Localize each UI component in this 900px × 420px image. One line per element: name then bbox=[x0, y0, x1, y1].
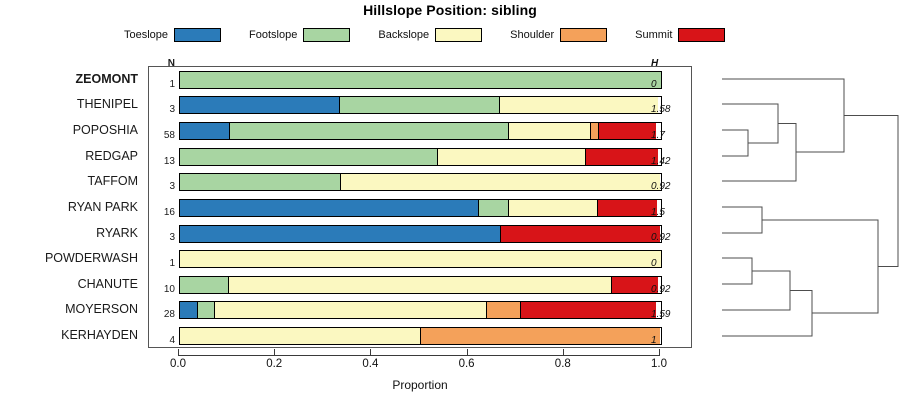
legend: ToeslopeFootslopeBackslopeShoulderSummit bbox=[0, 26, 900, 44]
n-value: 28 bbox=[164, 310, 175, 323]
y-axis-label-text: RYARK bbox=[96, 226, 138, 240]
stacked-bar[interactable] bbox=[179, 301, 662, 319]
chart-root: Hillslope Position: sibling ToeslopeFoot… bbox=[0, 0, 900, 420]
h-value-cell: 1.5 bbox=[645, 195, 691, 221]
bar-segment-backslope bbox=[499, 97, 659, 113]
y-axis-label-poposhia[interactable]: POPOSHIA bbox=[73, 117, 138, 143]
bar-segment-footslope bbox=[339, 97, 498, 113]
x-axis-line bbox=[178, 355, 659, 356]
bar-segment-footslope bbox=[229, 123, 508, 139]
chart-row: 281.59 bbox=[149, 298, 691, 324]
bar-segment-footslope bbox=[180, 174, 340, 190]
x-axis-tick bbox=[370, 349, 371, 356]
h-value: 0.92 bbox=[651, 285, 670, 298]
n-value: 13 bbox=[164, 157, 175, 170]
n-value: 3 bbox=[169, 182, 175, 195]
h-value-cell: 1.58 bbox=[645, 93, 691, 119]
h-value-cell: 0 bbox=[645, 67, 691, 93]
y-axis-label-zeomont[interactable]: ZEOMONT bbox=[76, 66, 139, 92]
n-value-cell: 10 bbox=[149, 272, 179, 298]
bar-segment-backslope bbox=[340, 174, 660, 190]
bar-segment-summit bbox=[520, 302, 656, 318]
legend-item-toeslope[interactable]: Toeslope bbox=[124, 28, 221, 42]
n-value-cell: 28 bbox=[149, 298, 179, 324]
h-value-cell: 0.92 bbox=[645, 221, 691, 247]
y-axis-label-moyerson[interactable]: MOYERSON bbox=[65, 297, 138, 323]
n-value: 58 bbox=[164, 131, 175, 144]
n-value-cell: 4 bbox=[149, 323, 179, 349]
y-axis-label-text: MOYERSON bbox=[65, 302, 138, 316]
h-value: 1.42 bbox=[651, 157, 670, 170]
stacked-bar[interactable] bbox=[179, 199, 662, 217]
stacked-bar[interactable] bbox=[179, 327, 662, 345]
y-axis-label-powderwash[interactable]: POWDERWASH bbox=[45, 245, 138, 271]
x-axis-tick-label: 0.2 bbox=[266, 358, 282, 370]
h-value-cell: 0.92 bbox=[645, 170, 691, 196]
h-value: 1.5 bbox=[651, 208, 665, 221]
legend-item-summit[interactable]: Summit bbox=[635, 28, 725, 42]
legend-label: Backslope bbox=[378, 29, 429, 41]
y-axis-label-text: POPOSHIA bbox=[73, 123, 138, 137]
y-axis-label-text: POWDERWASH bbox=[45, 251, 138, 265]
x-axis-title: Proportion bbox=[148, 378, 692, 392]
legend-swatch-summit bbox=[678, 28, 725, 42]
x-axis: 0.00.20.40.60.81.0 bbox=[148, 349, 692, 350]
y-axis-labels: ZEOMONTTHENIPELPOPOSHIAREDGAPTAFFOMRYAN … bbox=[0, 66, 144, 348]
n-value-cell: 3 bbox=[149, 221, 179, 247]
y-axis-label-redgap[interactable]: REDGAP bbox=[85, 143, 138, 169]
n-header-text: N bbox=[168, 58, 175, 69]
chart-row: 30.92 bbox=[149, 221, 691, 247]
dendrogram bbox=[692, 66, 900, 348]
n-value: 1 bbox=[169, 259, 175, 272]
bar-segment-footslope bbox=[180, 277, 228, 293]
stacked-bar[interactable] bbox=[179, 122, 662, 140]
h-value-cell: 0.92 bbox=[645, 272, 691, 298]
y-axis-label-chanute[interactable]: CHANUTE bbox=[78, 271, 138, 297]
stacked-bar[interactable] bbox=[179, 148, 662, 166]
chart-row: 41 bbox=[149, 323, 691, 349]
h-value-cell: 1 bbox=[645, 323, 691, 349]
bar-segment-shoulder bbox=[486, 302, 520, 318]
y-axis-label-ryan-park[interactable]: RYAN PARK bbox=[68, 194, 138, 220]
bar-segment-footslope bbox=[478, 200, 508, 216]
h-value-cell: 1.7 bbox=[645, 118, 691, 144]
h-value: 1.58 bbox=[651, 105, 670, 118]
chart-row: 131.42 bbox=[149, 144, 691, 170]
y-axis-label-taffom[interactable]: TAFFOM bbox=[88, 169, 138, 195]
legend-swatch-backslope bbox=[435, 28, 482, 42]
bar-segment-backslope bbox=[508, 123, 590, 139]
h-value: 1.59 bbox=[651, 310, 670, 323]
chart-row: 31.58 bbox=[149, 93, 691, 119]
bar-segment-backslope bbox=[180, 251, 661, 267]
legend-item-backslope[interactable]: Backslope bbox=[378, 28, 482, 42]
bar-segment-toeslope bbox=[180, 200, 478, 216]
n-column-header: N bbox=[149, 58, 179, 84]
chart-row: 161.5 bbox=[149, 195, 691, 221]
stacked-bar[interactable] bbox=[179, 173, 662, 191]
x-axis-tick bbox=[178, 349, 179, 356]
x-axis-tick-label: 0.6 bbox=[459, 358, 475, 370]
y-axis-label-ryark[interactable]: RYARK bbox=[96, 220, 138, 246]
dendrogram-svg bbox=[692, 66, 900, 348]
h-value-cell: 1.59 bbox=[645, 298, 691, 324]
stacked-bar[interactable] bbox=[179, 250, 662, 268]
stacked-bar[interactable] bbox=[179, 276, 662, 294]
y-axis-label-text: TAFFOM bbox=[88, 174, 138, 188]
n-value-cell: 1 bbox=[149, 246, 179, 272]
h-value: 0 bbox=[651, 80, 657, 93]
x-axis-tick-label: 0.4 bbox=[362, 358, 378, 370]
plot-panel: 1NH031.58581.7131.4230.92161.530.9210100… bbox=[148, 66, 692, 348]
y-axis-label-thenipel[interactable]: THENIPEL bbox=[77, 92, 138, 118]
n-value-cell: 3 bbox=[149, 170, 179, 196]
bar-segment-footslope bbox=[180, 72, 661, 88]
bar-segment-shoulder bbox=[420, 328, 660, 344]
legend-label: Summit bbox=[635, 29, 672, 41]
bar-segment-footslope bbox=[180, 149, 437, 165]
bar-segment-backslope bbox=[228, 277, 611, 293]
n-value-cell: 13 bbox=[149, 144, 179, 170]
legend-swatch-shoulder bbox=[560, 28, 607, 42]
y-axis-label-text: CHANUTE bbox=[78, 277, 138, 291]
bar-segment-toeslope bbox=[180, 123, 229, 139]
bar-segment-footslope bbox=[197, 302, 214, 318]
h-value-cell: 0 bbox=[645, 246, 691, 272]
y-axis-label-text: REDGAP bbox=[85, 149, 138, 163]
bar-segment-toeslope bbox=[180, 97, 339, 113]
h-value: 1.7 bbox=[651, 131, 665, 144]
n-value: 4 bbox=[169, 336, 175, 349]
legend-label: Shoulder bbox=[510, 29, 554, 41]
n-value-cell: 16 bbox=[149, 195, 179, 221]
bar-segment-summit bbox=[500, 226, 660, 242]
n-value-cell: 58 bbox=[149, 118, 179, 144]
bar-segment-toeslope bbox=[180, 302, 197, 318]
legend-swatch-toeslope bbox=[174, 28, 221, 42]
y-axis-label-text: THENIPEL bbox=[77, 97, 138, 111]
stacked-bar[interactable] bbox=[179, 225, 662, 243]
x-axis-tick bbox=[274, 349, 275, 356]
x-axis-tick bbox=[659, 349, 660, 356]
bar-segment-backslope bbox=[214, 302, 486, 318]
bar-segment-backslope bbox=[180, 328, 420, 344]
x-axis-tick-label: 0.0 bbox=[170, 358, 186, 370]
stacked-bar[interactable] bbox=[179, 96, 662, 114]
n-value: 3 bbox=[169, 233, 175, 246]
h-value: 0.92 bbox=[651, 233, 670, 246]
chart-row: 10 bbox=[149, 246, 691, 272]
y-axis-label-text: KERHAYDEN bbox=[61, 328, 138, 342]
y-axis-label-text: ZEOMONT bbox=[76, 72, 139, 86]
h-value: 0 bbox=[651, 259, 657, 272]
bar-segment-toeslope bbox=[180, 226, 500, 242]
n-value-cell: 3 bbox=[149, 93, 179, 119]
n-value: 16 bbox=[164, 208, 175, 221]
legend-label: Toeslope bbox=[124, 29, 168, 41]
chart-row: 1NH0 bbox=[149, 67, 691, 93]
chart-row: 30.92 bbox=[149, 170, 691, 196]
legend-item-shoulder[interactable]: Shoulder bbox=[510, 28, 607, 42]
legend-label: Footslope bbox=[249, 29, 297, 41]
legend-swatch-footslope bbox=[303, 28, 350, 42]
y-axis-label-kerhayden[interactable]: KERHAYDEN bbox=[61, 322, 138, 348]
x-axis-tick-label: 0.8 bbox=[555, 358, 571, 370]
page-title: Hillslope Position: sibling bbox=[0, 2, 900, 18]
x-axis-tick bbox=[563, 349, 564, 356]
chart-row: 100.92 bbox=[149, 272, 691, 298]
bar-segment-backslope bbox=[508, 200, 597, 216]
h-value: 0.92 bbox=[651, 182, 670, 195]
n-value: 10 bbox=[164, 285, 175, 298]
n-value: 3 bbox=[169, 105, 175, 118]
legend-item-footslope[interactable]: Footslope bbox=[249, 28, 350, 42]
stacked-bar[interactable] bbox=[179, 71, 662, 89]
bar-segment-shoulder bbox=[590, 123, 598, 139]
x-axis-tick-label: 1.0 bbox=[651, 358, 667, 370]
h-value-cell: 1.42 bbox=[645, 144, 691, 170]
bar-segment-backslope bbox=[437, 149, 584, 165]
h-value: 1 bbox=[651, 336, 657, 349]
x-axis-tick bbox=[467, 349, 468, 356]
y-axis-label-text: RYAN PARK bbox=[68, 200, 138, 214]
chart-row: 581.7 bbox=[149, 118, 691, 144]
